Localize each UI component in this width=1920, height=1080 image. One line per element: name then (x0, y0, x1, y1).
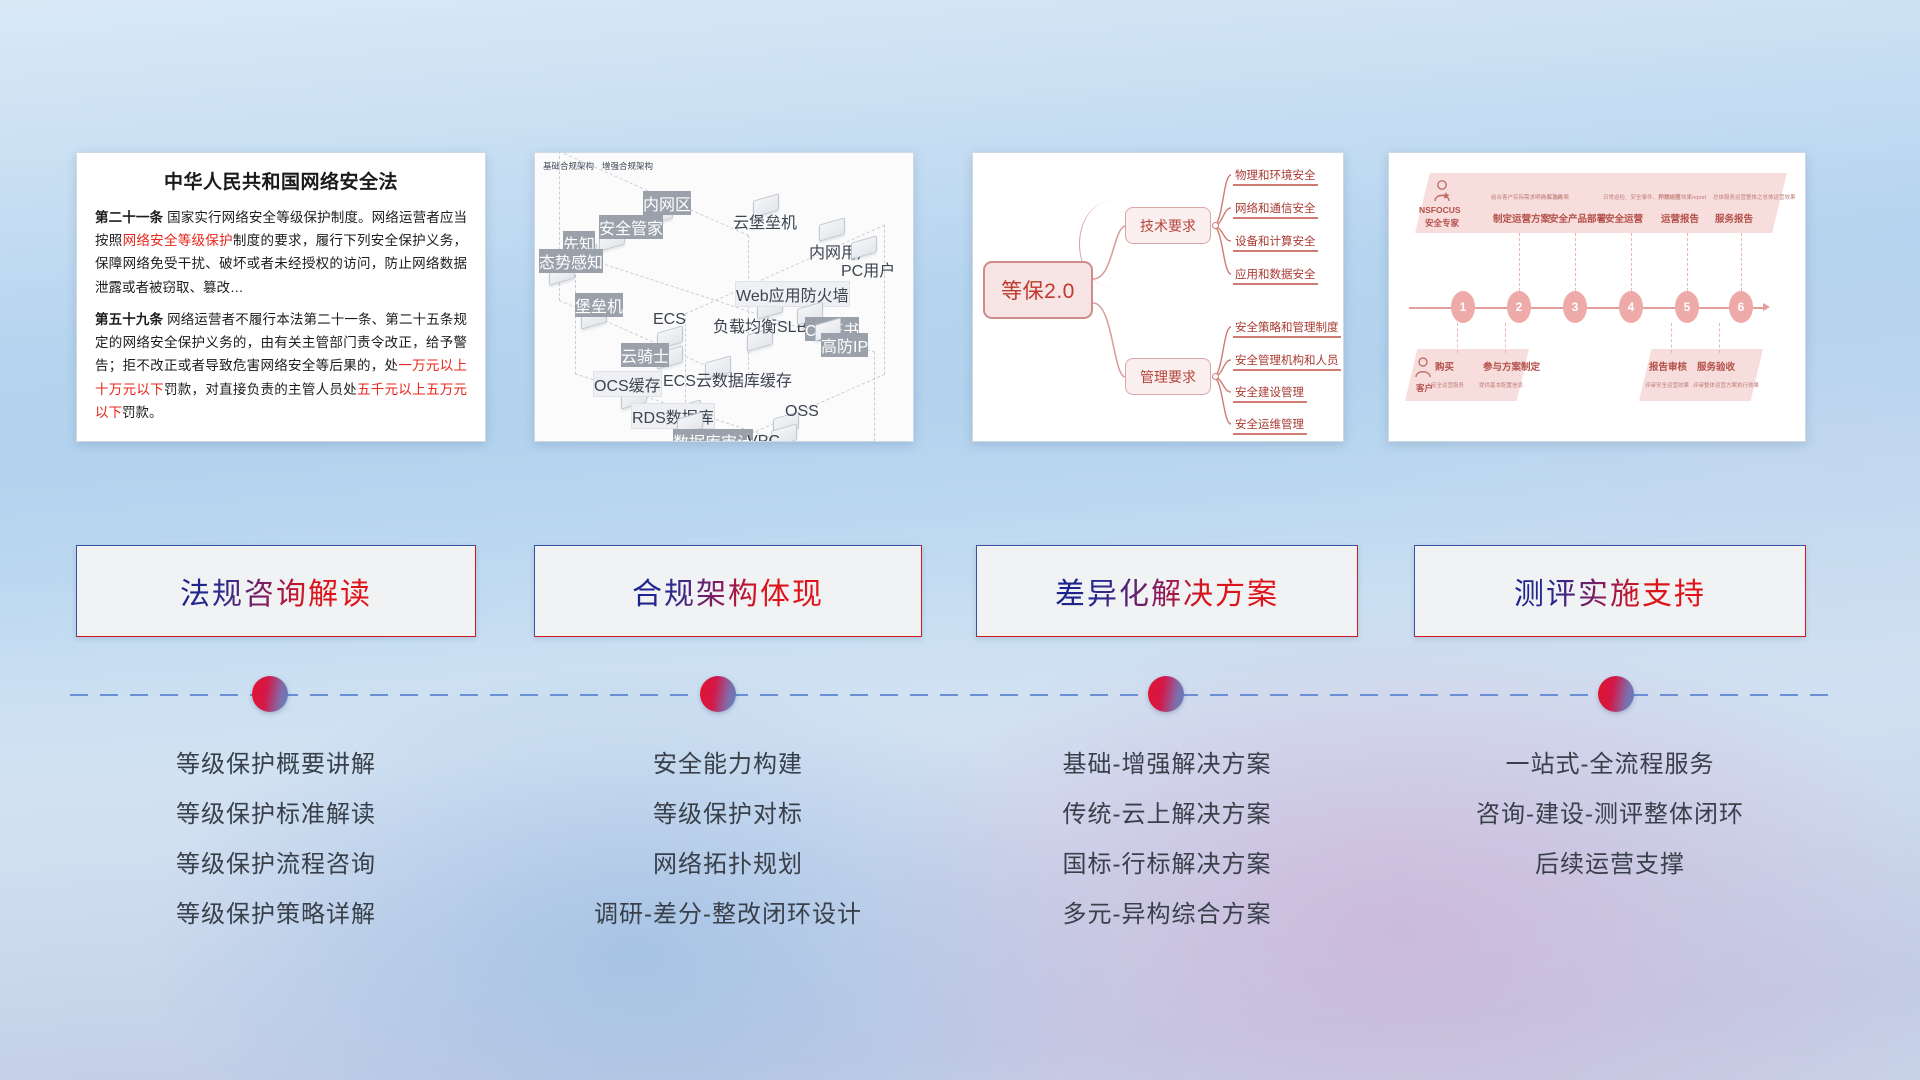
mindmap-leaf-underline (1233, 433, 1307, 435)
detail-list-item: 等级保护对标 (534, 790, 922, 840)
detail-list-item: 基础-增强解决方案 (976, 740, 1358, 790)
timeline-top-step-label: 制定运营方案 (1493, 211, 1550, 225)
timeline-bottom-step-label: 服务验收 (1697, 359, 1735, 373)
mindmap-leaf-underline (1233, 369, 1341, 371)
headline-label-4: 测评实施支持 (1514, 569, 1706, 613)
timeline-arrow-icon (1763, 303, 1770, 311)
headline-box-2[interactable]: 合规架构体现 (534, 545, 922, 637)
timeline-connector-dash (1719, 323, 1720, 353)
headline-row: 法规咨询解读 合规架构体现 差异化解决方案 测评实施支持 (0, 545, 1920, 637)
mindmap-leaf-label[interactable]: 安全建设管理 (1235, 384, 1304, 400)
arch-node-label: ECS云数据库缓存 (663, 367, 792, 391)
headline-label-2: 合规架构体现 (632, 569, 824, 613)
arch-node (819, 221, 845, 238)
law-article-number: 第二十一条 (95, 210, 163, 225)
detail-list-item: 咨询-建设-测评整体闭环 (1414, 790, 1806, 840)
arch-node-label: OCS缓存 (593, 371, 662, 397)
timeline-bottom-step-sub: 评审整体运营方案执行效果 (1693, 381, 1759, 389)
mindmap-leaf-label[interactable]: 物理和环境安全 (1235, 167, 1316, 183)
timeline-top-step-sub: 总体服务运营整体之总体运营效果 (1713, 193, 1796, 201)
timeline-connector-dash (1575, 233, 1576, 291)
headline-box-4[interactable]: 测评实施支持 (1414, 545, 1806, 637)
timeline-top-step-label: 安全运营 (1605, 211, 1643, 225)
detail-list-item: 等级保护流程咨询 (76, 840, 476, 890)
arch-node-label: 云骑士 (621, 343, 669, 367)
mindmap-leaf-underline (1233, 184, 1318, 186)
law-article-number: 第五十九条 (95, 312, 163, 327)
timeline-connector-dash (1505, 323, 1506, 353)
timeline-top-step-label: 运营报告 (1661, 211, 1699, 225)
detail-list-item: 调研-差分-整改闭环设计 (534, 890, 922, 940)
timeline-step-node-2[interactable]: 2 (1507, 291, 1531, 323)
timeline-step-node-4[interactable]: 4 (1619, 291, 1643, 323)
arch-tab-enhanced[interactable]: 增强合规架构 (602, 160, 653, 172)
timeline-bottom-step-label: 参与方案制定 (1483, 359, 1540, 373)
arch-node-label: PC用户 (841, 257, 895, 281)
mindmap-leaf-underline (1233, 401, 1307, 403)
architecture-diagram: 基础合规架构 增强合规架构 内网区安全管家先知态势感知堡垒机ECS云骑士OCS缓… (535, 153, 913, 441)
arch-node-label: VPC (747, 433, 780, 442)
mindmap-leaf-underline (1233, 217, 1318, 219)
mindmap-leaf-underline (1233, 283, 1318, 285)
timeline-step-node-5[interactable]: 5 (1675, 291, 1699, 323)
mindmap-leaf-underline (1233, 336, 1341, 338)
arch-node-label: OSS (785, 403, 819, 421)
detail-list-item: 后续运营支撑 (1414, 840, 1806, 890)
card-service-timeline[interactable]: NSFOCUS 安全专家 客户 123456制定运营方案结合客户实际需求明确出工… (1388, 152, 1806, 442)
card-cybersecurity-law[interactable]: 中华人民共和国网络安全法 第二十一条 国家实行网络安全等级保护制度。网络运营者应… (76, 152, 486, 442)
mindmap-collapse-dot-technical[interactable] (1212, 222, 1219, 229)
mindmap-branch-technical[interactable]: 技术要求 (1125, 207, 1211, 244)
timeline-connector-dash (1741, 233, 1742, 291)
timeline-bottom-banner-right (1639, 349, 1763, 401)
detail-list-item: 多元-异构综合方案 (976, 890, 1358, 940)
mindmap-leaf-underline (1233, 250, 1318, 252)
rail-dot-2[interactable] (700, 676, 736, 712)
arch-node-label: 数据库审计 (673, 429, 753, 442)
expert-person-icon (1431, 179, 1453, 203)
detail-list-item: 安全能力构建 (534, 740, 922, 790)
timeline-bottom-step-sub: 提供基本配置信息 (1479, 381, 1523, 389)
timeline-top-step-sub: 实施方案 (1547, 193, 1569, 201)
timeline-bottom-step-label: 购买 (1435, 359, 1454, 373)
timeline-connector-dash (1457, 323, 1458, 353)
rail-dot-3[interactable] (1148, 676, 1184, 712)
rail-dot-1[interactable] (252, 676, 288, 712)
mindmap: 等保2.0 技术要求 管理要求 物理和环境安全网络和通信安全设备和计算安全应用和… (973, 153, 1343, 441)
preview-cards-row: 中华人民共和国网络安全法 第二十一条 国家实行网络安全等级保护制度。网络运营者应… (0, 152, 1920, 442)
expert-label-line1: NSFOCUS (1419, 205, 1461, 215)
mindmap-collapse-dot-management[interactable] (1212, 373, 1219, 380)
timeline-connector-dash (1687, 233, 1688, 291)
timeline-step-node-3[interactable]: 3 (1563, 291, 1587, 323)
law-paragraph-59: 第五十九条 网络运营者不履行本法第二十一条、第二十五条规定的网络安全保护义务的，… (95, 308, 467, 424)
arch-node-label: 安全管家 (599, 215, 663, 239)
timeline-rail (70, 694, 1840, 696)
arch-node-label: ECS (653, 311, 686, 329)
timeline-step-node-1[interactable]: 1 (1451, 291, 1475, 323)
mindmap-leaf-label[interactable]: 应用和数据安全 (1235, 266, 1316, 282)
detail-list-3: 基础-增强解决方案传统-云上解决方案国标-行标解决方案多元-异构综合方案 (976, 740, 1358, 940)
expert-label-line2: 安全专家 (1425, 217, 1459, 229)
rail-dot-4[interactable] (1598, 676, 1634, 712)
headline-label-3: 差异化解决方案 (1055, 569, 1279, 613)
timeline-top-step-sub: 阶段运营效果report (1659, 193, 1706, 201)
arch-node-label: 内网区 (643, 191, 691, 215)
mindmap-branch-management[interactable]: 管理要求 (1125, 358, 1211, 395)
timeline-bottom-step-sub: 评审安全运营效果 (1645, 381, 1689, 389)
arch-node-label: 高防IP (821, 333, 868, 357)
service-timeline: NSFOCUS 安全专家 客户 123456制定运营方案结合客户实际需求明确出工… (1389, 153, 1805, 441)
detail-list-item: 等级保护概要讲解 (76, 740, 476, 790)
law-text-run: 罚款，对直接负责的主管人员处 (164, 382, 357, 397)
law-body: 中华人民共和国网络安全法 第二十一条 国家实行网络安全等级保护制度。网络运营者应… (77, 153, 485, 434)
timeline-connector-dash (1671, 323, 1672, 353)
detail-list-2: 安全能力构建等级保护对标网络拓扑规划调研-差分-整改闭环设计 (534, 740, 922, 940)
mindmap-leaf-label[interactable]: 安全运维管理 (1235, 416, 1304, 432)
law-text-run: 罚款。 (122, 405, 163, 420)
timeline-bottom-step-sub: 安全运营服务 (1431, 381, 1464, 389)
timeline-step-node-6[interactable]: 6 (1729, 291, 1753, 323)
detail-list-item: 等级保护策略详解 (76, 890, 476, 940)
timeline-connector-dash (1519, 233, 1520, 291)
mindmap-leaf-label[interactable]: 设备和计算安全 (1235, 233, 1316, 249)
arch-node-label: 堡垒机 (575, 293, 623, 317)
detail-list-item: 网络拓扑规划 (534, 840, 922, 890)
timeline-connector-dash (1631, 233, 1632, 291)
headline-box-1[interactable]: 法规咨询解读 (76, 545, 476, 637)
arch-node-label: 云堡垒机 (733, 209, 797, 233)
timeline-top-step-label: 安全产品部署 (1549, 211, 1606, 225)
law-highlight-run: 网络安全等级保护 (123, 233, 233, 248)
arch-node-label: 态势感知 (539, 249, 603, 273)
card-compliance-architecture[interactable]: 基础合规架构 增强合规架构 内网区安全管家先知态势感知堡垒机ECS云骑士OCS缓… (534, 152, 914, 442)
law-title: 中华人民共和国网络安全法 (95, 167, 467, 194)
mindmap-leaf-label[interactable]: 网络和通信安全 (1235, 200, 1316, 216)
customer-person-icon (1413, 355, 1433, 379)
detail-list-item: 传统-云上解决方案 (976, 790, 1358, 840)
timeline-bottom-step-label: 报告审核 (1649, 359, 1687, 373)
detail-list-item: 等级保护标准解读 (76, 790, 476, 840)
detail-list-4: 一站式-全流程服务咨询-建设-测评整体闭环后续运营支撑 (1414, 740, 1806, 890)
headline-box-3[interactable]: 差异化解决方案 (976, 545, 1358, 637)
law-paragraph-21: 第二十一条 国家实行网络安全等级保护制度。网络运营者应当按照网络安全等级保护制度… (95, 206, 467, 299)
headline-label-1: 法规咨询解读 (180, 569, 372, 613)
mindmap-leaf-label[interactable]: 安全管理机构和人员 (1235, 352, 1339, 368)
timeline-top-step-label: 服务报告 (1715, 211, 1753, 225)
arch-node-label: Web应用防火墙 (735, 281, 850, 307)
mindmap-root-node[interactable]: 等保2.0 (983, 261, 1093, 319)
detail-list-item: 一站式-全流程服务 (1414, 740, 1806, 790)
mindmap-leaf-label[interactable]: 安全策略和管理制度 (1235, 319, 1339, 335)
detail-list-1: 等级保护概要讲解等级保护标准解读等级保护流程咨询等级保护策略详解 (76, 740, 476, 940)
detail-list-item: 国标-行标解决方案 (976, 840, 1358, 890)
card-mindmap-dengbao[interactable]: 等保2.0 技术要求 管理要求 物理和环境安全网络和通信安全设备和计算安全应用和… (972, 152, 1344, 442)
arch-node (851, 239, 877, 256)
